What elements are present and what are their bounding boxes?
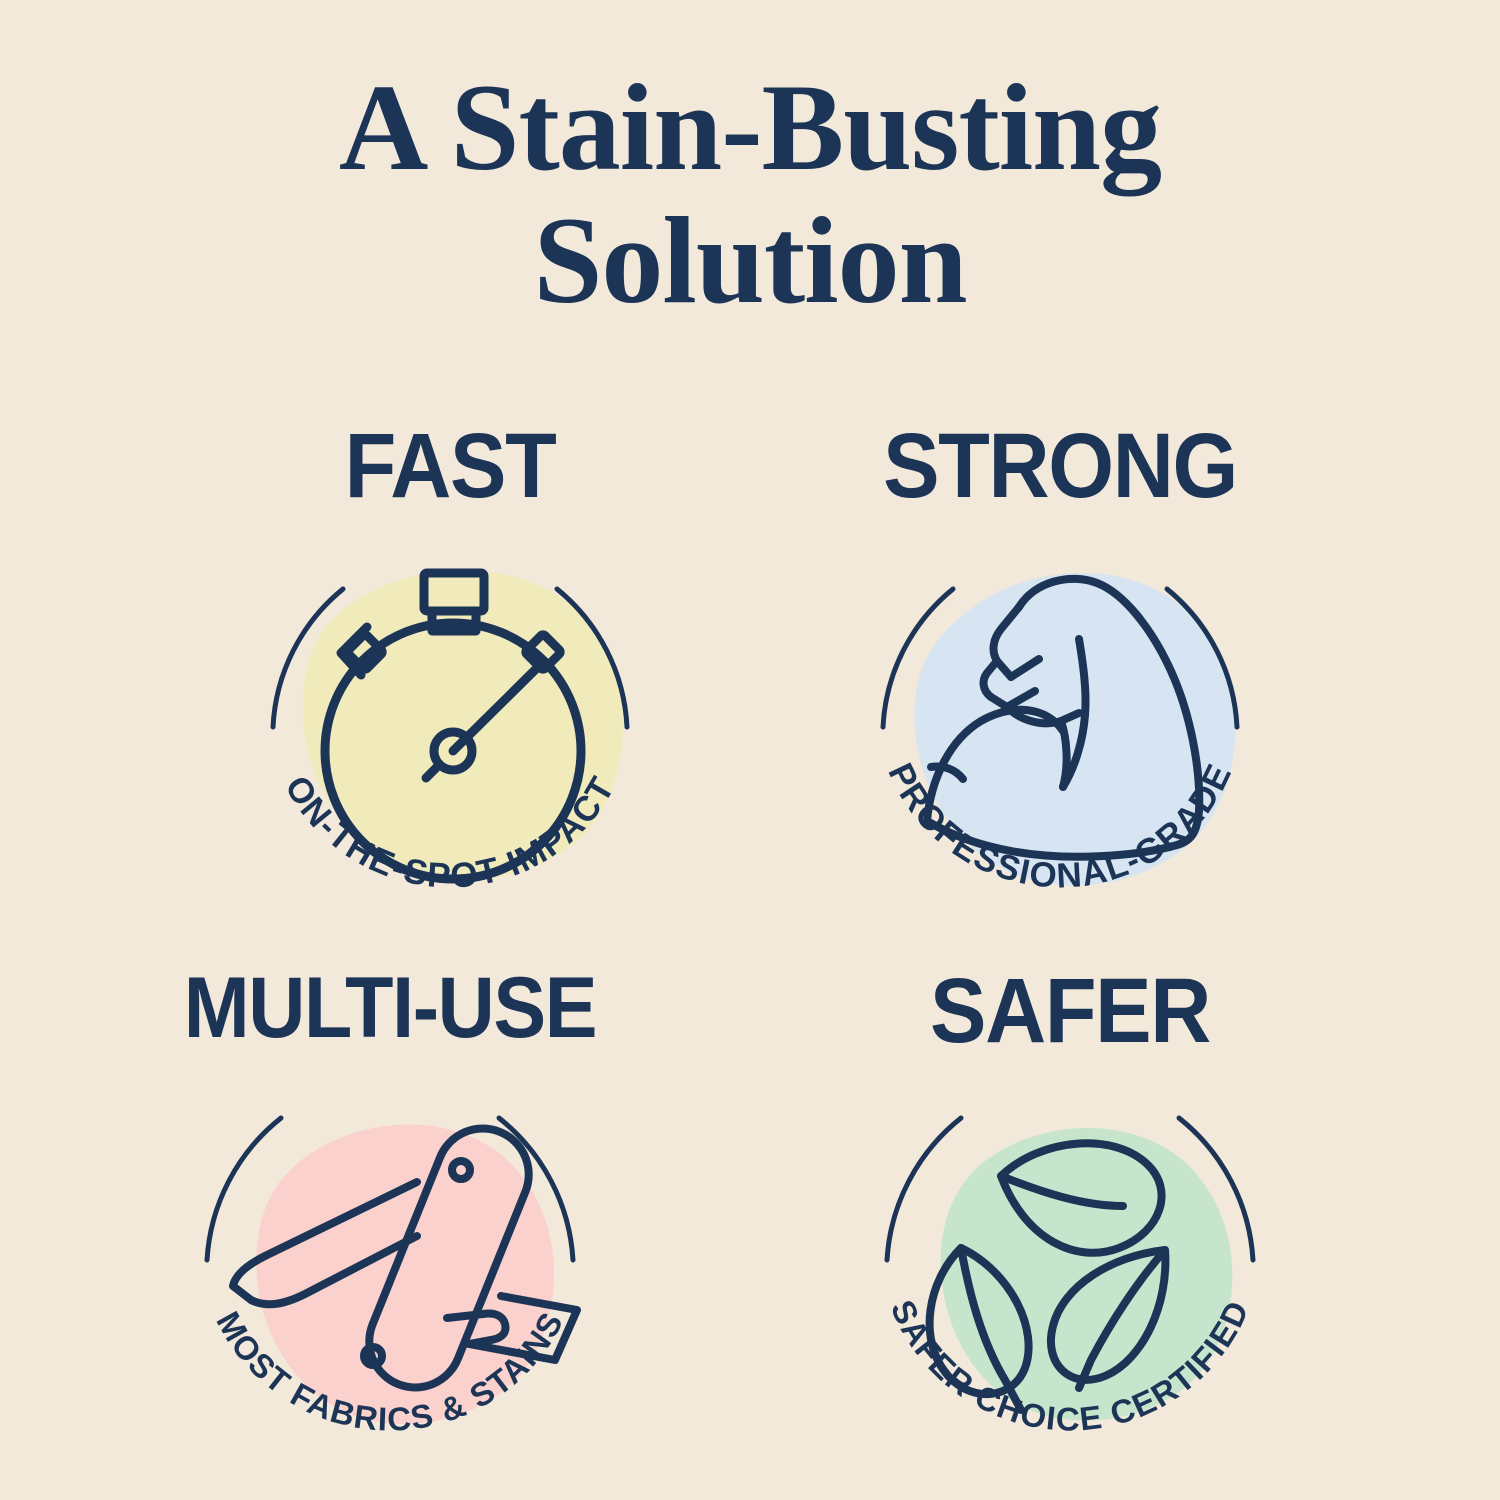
benefit-badge-strong: STRONG: [780, 420, 1340, 940]
benefit-badge-safer: SAFER: [790, 965, 1350, 1485]
page-title: A Stain-Busting Solution: [0, 62, 1500, 327]
badge-title-multi-use: MULTI-USE: [132, 965, 647, 1051]
medallion-multi-use: MOST FABRICS & STAINS: [165, 1060, 615, 1480]
medallion-safer: SAFER CHOICE CERTIFIED: [845, 1060, 1295, 1480]
badge-title-safer: SAFER: [812, 965, 1327, 1057]
badge-title-fast: FAST: [192, 420, 707, 512]
benefit-badge-fast: FAST: [170, 420, 730, 940]
badge-title-strong: STRONG: [802, 420, 1317, 512]
medallion-fast: ON-THE-SPOT IMPACT: [225, 515, 675, 935]
promo-graphic: A Stain-Busting Solution FAST: [0, 0, 1500, 1500]
benefit-badge-grid: FAST: [0, 420, 1500, 1480]
benefit-badge-multi-use: MULTI-USE: [110, 965, 670, 1485]
medallion-strong: PROFESSIONAL-GRADE: [835, 515, 1285, 935]
